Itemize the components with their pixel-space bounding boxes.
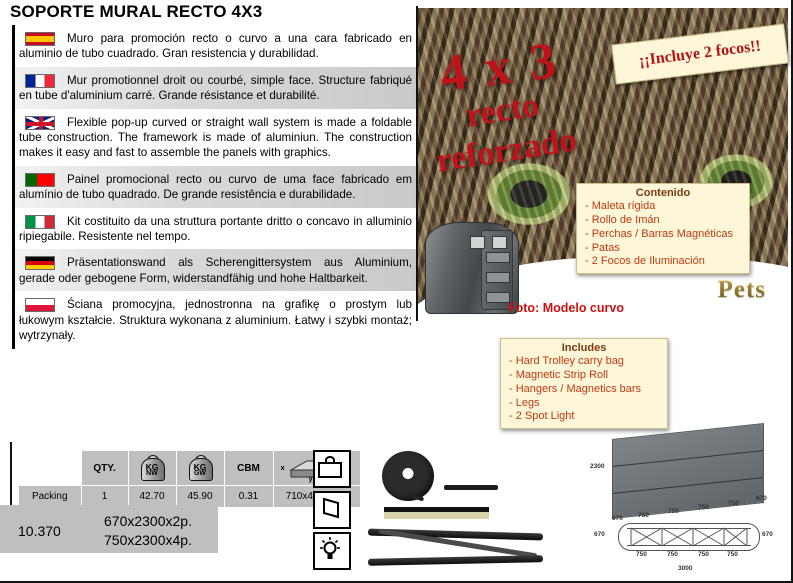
weight-nw-icon: KG NW [139,455,165,481]
language-description-list: Muro para promoción recto o curvo a una … [12,25,418,349]
dimension-height: 2300 [590,463,604,470]
plan-bay-1: 750 [667,551,678,558]
plan-dimension-right: 670 [762,531,773,538]
magnetic-bar-photo [444,485,498,490]
product-sizes: 670x2300x2p. 750x2300x4p. [104,512,192,550]
language-text-en: Flexible pop-up curved or straight wall … [19,115,412,161]
dimension-base-0: 670 [612,515,623,522]
language-text-es: Muro para promoción recto o curvo a una … [19,31,412,62]
feature-icon-column [313,450,351,573]
dimension-base-4: 750 [728,500,739,507]
wall-perspective-view [612,423,764,519]
axis-x-label: x [281,463,285,472]
pets-watermark: Pets [718,276,766,304]
page-title: SOPORTE MURAL RECTO 4X3 [10,2,262,22]
list-item: - 2 Focos de Iluminación [585,255,745,269]
plan-bay-0: 750 [636,551,647,558]
list-item: - Hard Trolley carry bag [509,355,663,369]
language-block-de: Präsentationswand als Scherengittersyste… [12,249,418,291]
plan-bay-2: 750 [698,551,709,558]
language-block-en: Flexible pop-up curved or straight wall … [12,109,418,166]
leg-photo [368,555,543,566]
magnetic-strip-roll-photo [382,451,434,501]
header-net-weight: KG NW [128,451,176,486]
language-text-pt: Painel promocional recto ou curvo de uma… [19,172,412,203]
weight-gw-icon: KG GW [187,455,213,481]
header-gross-weight: KG GW [176,451,224,486]
language-block-fr: Mur promotionnel droit ou courbé, simple… [12,67,418,109]
hard-case-photo [425,222,519,314]
language-block-it: Kit costituito da una struttura portante… [12,208,418,250]
contents-note-es: Contenido - Maleta rígida - Rollo de Imá… [576,183,750,274]
language-block-pl: Ściana promocyjna, jednostronna na grafi… [12,291,418,348]
list-item: - Perchas / Barras Magnéticas [585,228,745,242]
product-size-1: 670x2300x2p. [104,512,192,531]
flag-portugal-icon [25,173,59,187]
dimension-base-3: 750 [698,504,709,511]
language-text-de: Präsentationswand als Scherengittersyste… [19,255,412,286]
technical-drawing: 2300 670 750 750 750 750 670 670 670 750… [590,425,790,575]
contents-note-en-title: Includes [501,342,667,354]
trolley-case-icon [313,450,351,488]
list-item: - Legs [509,397,663,411]
language-text-it: Kit costituito da una struttura portante… [19,214,412,245]
flag-italy-icon [25,215,59,229]
list-item: - Hangers / Magnetics bars [509,383,663,397]
plan-dimension-left: 670 [594,531,605,538]
language-text-pl: Ściana promocyjna, jednostronna na grafi… [19,297,412,343]
header-cbm: CBM [224,451,273,486]
language-block-pt: Painel promocional recto ou curvo de uma… [12,166,418,208]
language-block-es: Muro para promoción recto o curvo a una … [12,25,418,67]
nw-label: NW [139,470,165,477]
cell-cbm: 0.31 [224,486,273,508]
truss-plan-view [618,523,760,551]
list-item: - Magnetic Strip Roll [509,369,663,383]
contents-note-es-list: - Maleta rígida - Rollo de Imán - Percha… [577,200,749,273]
header-blank [19,451,82,486]
dimension-base-2: 750 [668,508,679,515]
panel-icon [313,491,351,529]
header-qty: QTY. [81,451,128,486]
plan-total-width: 3000 [678,565,692,572]
flag-spain-icon [25,32,59,46]
list-item: - 2 Spot Light [509,410,663,424]
contents-note-en-list: - Hard Trolley carry bag - Magnetic Stri… [501,355,667,428]
language-text-fr: Mur promotionnel droit ou courbé, simple… [19,73,412,104]
contents-note-en: Includes - Hard Trolley carry bag - Magn… [500,338,668,429]
contents-note-es-title: Contenido [577,187,749,199]
list-item: - Maleta rígida [585,200,745,214]
product-size-2: 750x2300x4p. [104,531,192,550]
magnetic-strip-photo [384,507,489,519]
flag-germany-icon [25,256,59,270]
dimension-base-5: 670 [756,495,767,502]
flag-poland-icon [25,298,59,312]
flag-france-icon [25,74,59,88]
accessories-photo [360,445,585,580]
gw-label: GW [187,470,213,477]
product-code: 10.370 [18,523,61,539]
list-item: - Patas [585,242,745,256]
plan-bay-3: 750 [727,551,738,558]
dimension-base-1: 750 [638,512,649,519]
flag-uk-icon [25,116,59,130]
list-item: - Rollo de Imán [585,214,745,228]
photo-caption: Foto: Modelo curvo [508,301,624,315]
spot-light-icon [313,532,351,570]
